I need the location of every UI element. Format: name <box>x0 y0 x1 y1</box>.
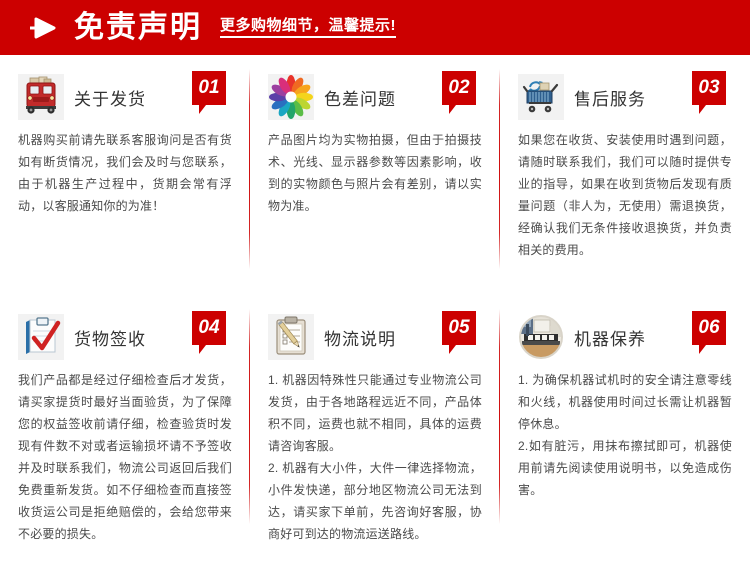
delivery-truck-icon <box>18 74 64 120</box>
card-shipping: 关于发货 01 机器购买前请先联系客服询问是否有货如有断货情况，我们会及时与您联… <box>0 55 250 295</box>
card-title: 售后服务 <box>574 85 646 110</box>
card-body-text: 1. 机器因特殊性只能通过专业物流公司发货，由于各地路程远近不同，产品体积不同，… <box>268 369 482 545</box>
card-badge-number: 01 <box>192 71 226 105</box>
card-logistics: 物流说明 05 1. 机器因特殊性只能通过专业物流公司发货，由于各地路程远近不同… <box>250 295 500 540</box>
card-body-paragraph: 如果您在收货、安装使用时遇到问题，请随时联系我们，我们可以随时提供专业的指导，如… <box>518 129 732 261</box>
card-header: 货物签收 04 <box>18 313 232 361</box>
card-body-paragraph: 产品图片均为实物拍摄，但由于拍摄技术、光线、显示器参数等因素影响，收到的实物颜色… <box>268 129 482 217</box>
card-badge-number: 04 <box>192 311 226 345</box>
card-color-difference: 色差问题 02 产品图片均为实物拍摄，但由于拍摄技术、光线、显示器参数等因素影响… <box>250 55 500 295</box>
card-header: 色差问题 02 <box>268 73 482 121</box>
card-title: 机器保养 <box>574 325 646 350</box>
card-row-bottom: 货物签收 04 我们产品都是经过仔细检查后才发货，请买家提货时最好当面验货，为了… <box>0 295 750 540</box>
card-header: 售后服务 03 <box>518 73 732 121</box>
card-after-sales: 售后服务 03 如果您在收货、安装使用时遇到问题，请随时联系我们，我们可以随时提… <box>500 55 750 295</box>
card-title: 货物签收 <box>74 325 146 350</box>
card-body-text: 机器购买前请先联系客服询问是否有货如有断货情况，我们会及时与您联系，由于机器生产… <box>18 129 232 217</box>
card-badge-number: 03 <box>692 71 726 105</box>
clipboard-check-icon <box>18 314 64 360</box>
card-goods-receipt: 货物签收 04 我们产品都是经过仔细检查后才发货，请买家提货时最好当面验货，为了… <box>0 295 250 540</box>
card-body-paragraph: 机器购买前请先联系客服询问是否有货如有断货情况，我们会及时与您联系，由于机器生产… <box>18 129 232 217</box>
card-header: 物流说明 05 <box>268 313 482 361</box>
card-body-paragraph: 1. 为确保机器试机时的安全请注意零线和火线，机器使用时间过长需让机器暂停休息。… <box>518 369 732 501</box>
card-body-text: 如果您在收货、安装使用时遇到问题，请随时联系我们，我们可以随时提供专业的指导，如… <box>518 129 732 261</box>
header-subtitle-underline: 更多购物细节，温馨提示! <box>220 18 396 38</box>
card-body-text: 1. 为确保机器试机时的安全请注意零线和火线，机器使用时间过长需让机器暂停休息。… <box>518 369 732 501</box>
card-header: 机器保养 06 <box>518 313 732 361</box>
card-maintenance: 机器保养 06 1. 为确保机器试机时的安全请注意零线和火线，机器使用时间过长需… <box>500 295 750 540</box>
header-subtitle: 更多购物细节，温馨提示! <box>220 17 396 34</box>
card-row-top: 关于发货 01 机器购买前请先联系客服询问是否有货如有断货情况，我们会及时与您联… <box>0 55 750 295</box>
page-title: 免责声明 <box>74 13 202 43</box>
arrow-right-icon <box>28 15 58 41</box>
clipboard-pencil-icon <box>268 314 314 360</box>
card-badge-number: 02 <box>442 71 476 105</box>
disclaimer-header-bar: 免责声明 更多购物细节，温馨提示! <box>0 0 750 55</box>
disclaimer-cards-area: 关于发货 01 机器购买前请先联系客服询问是否有货如有断货情况，我们会及时与您联… <box>0 55 750 588</box>
card-body-paragraph: 1. 机器因特殊性只能通过专业物流公司发货，由于各地路程远近不同，产品体积不同，… <box>268 369 482 545</box>
card-body-text: 我们产品都是经过仔细检查后才发货，请买家提货时最好当面验货，为了保障您的权益签收… <box>18 369 232 545</box>
card-badge-number: 05 <box>442 311 476 345</box>
card-body-text: 产品图片均为实物拍摄，但由于拍摄技术、光线、显示器参数等因素影响，收到的实物颜色… <box>268 129 482 217</box>
card-title: 色差问题 <box>324 85 396 110</box>
shopping-cart-icon <box>518 74 564 120</box>
card-title: 物流说明 <box>324 325 396 350</box>
machine-photo-icon <box>518 314 564 360</box>
card-title: 关于发货 <box>74 85 146 110</box>
card-body-paragraph: 我们产品都是经过仔细检查后才发货，请买家提货时最好当面验货，为了保障您的权益签收… <box>18 369 232 545</box>
card-header: 关于发货 01 <box>18 73 232 121</box>
color-wheel-icon <box>268 74 314 120</box>
card-badge-number: 06 <box>692 311 726 345</box>
